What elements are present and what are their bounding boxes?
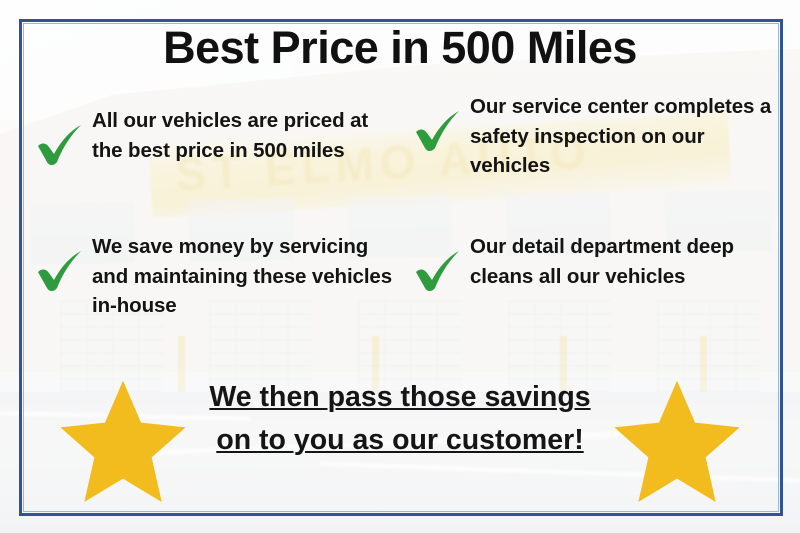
page-title: Best Price in 500 Miles [0, 24, 800, 71]
list-item: All our vehicles are priced at the best … [34, 106, 394, 170]
list-item: Our detail department deep cleans all ou… [412, 232, 742, 296]
poster-content: Best Price in 500 Miles All our vehicles… [0, 0, 800, 533]
list-item: We save money by servicing and maintaini… [34, 232, 406, 321]
list-item-label: Our detail department deep cleans all ou… [470, 232, 742, 291]
check-icon [34, 118, 86, 170]
list-item-label: We save money by servicing and maintaini… [92, 232, 406, 321]
check-icon [412, 244, 464, 296]
benefits-list: All our vehicles are priced at the best … [0, 92, 800, 352]
check-icon [412, 104, 464, 156]
tagline-text: We then pass those savings on to you as … [190, 376, 610, 462]
check-icon [34, 244, 86, 296]
list-item-label: Our service center completes a safety in… [470, 92, 790, 181]
list-item: Our service center completes a safety in… [412, 92, 790, 181]
best-price-poster: ST ELMO AUTO Best Price in 500 Mile [0, 0, 800, 533]
list-item-label: All our vehicles are priced at the best … [92, 106, 394, 165]
